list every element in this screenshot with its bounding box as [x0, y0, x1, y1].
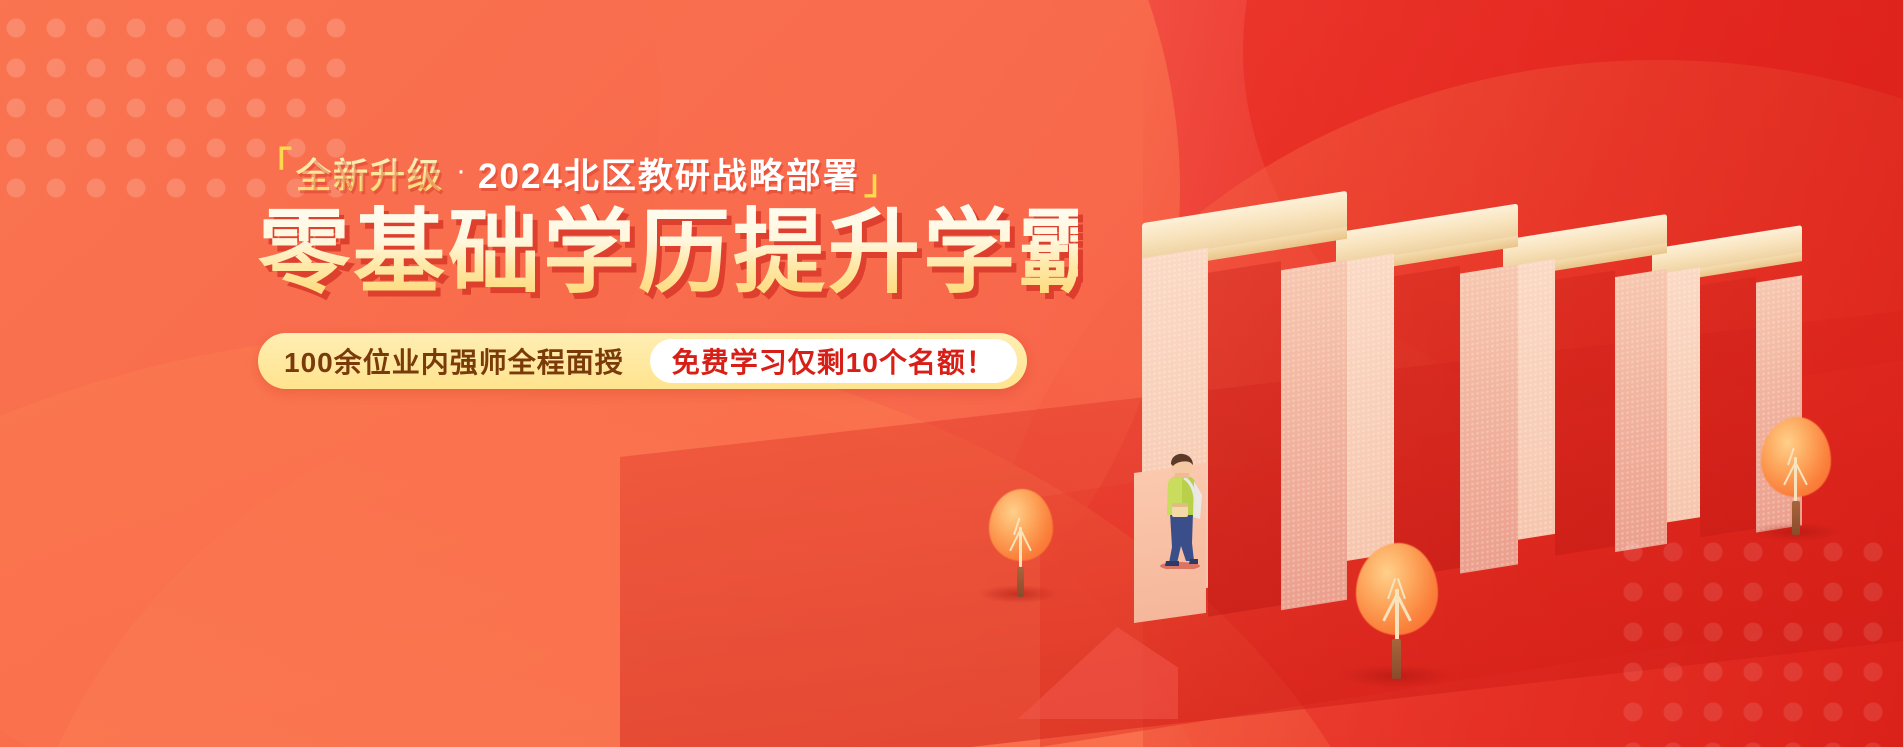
student-figure	[1150, 451, 1214, 569]
subtitle-gold-text: 全新升级	[296, 148, 444, 199]
dot-pattern-bottom-right	[1613, 532, 1903, 747]
tree-right	[1757, 417, 1835, 535]
subtitle-separator-icon: ·	[456, 154, 466, 188]
tree-left	[985, 489, 1057, 597]
banner-title: 零基础学历提升学霸班	[258, 204, 1078, 303]
promo-banner: 「 全新升级 · 2024北区教研战略部署 」 零基础学历提升学霸班 100余位…	[0, 0, 1903, 747]
bracket-open-icon: 「	[258, 148, 292, 182]
pill-left-label: 100余位业内强师全程面授	[284, 341, 650, 381]
bracket-close-icon: 」	[864, 166, 898, 200]
banner-cta-pill[interactable]: 100余位业内强师全程面授 免费学习仅剩10个名额！	[258, 333, 1027, 389]
subtitle-white-text: 2024北区教研战略部署	[478, 148, 860, 199]
banner-text-block: 「 全新升级 · 2024北区教研战略部署 」 零基础学历提升学霸班 100余位…	[258, 148, 1078, 389]
pill-right-label[interactable]: 免费学习仅剩10个名额！	[650, 339, 1017, 383]
banner-subtitle: 「 全新升级 · 2024北区教研战略部署 」	[258, 148, 1078, 198]
tree-center	[1352, 543, 1444, 679]
